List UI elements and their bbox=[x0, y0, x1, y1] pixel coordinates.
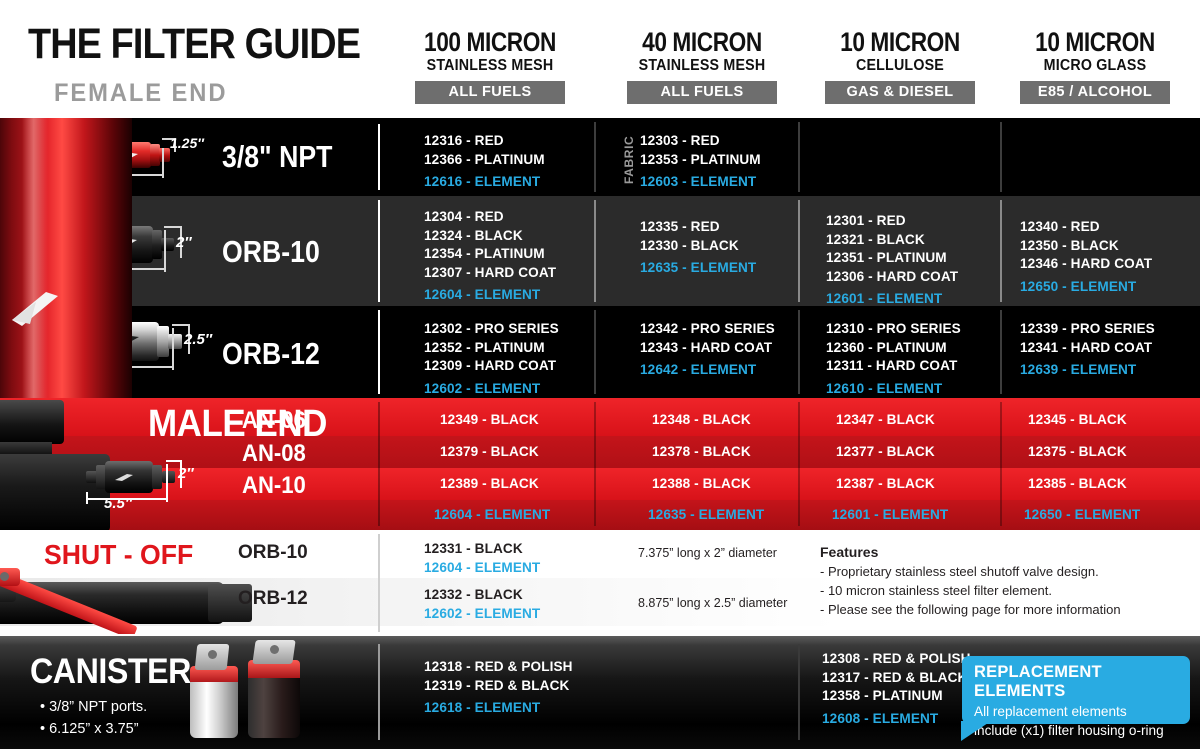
row-orb-10: 5.5″ 2″ ORB-10 12304 - RED 12324 - BLACK… bbox=[0, 196, 1200, 306]
chart-body: 3.5″ 1.25″ 3/8" NPT FABRIC 12316 - RED 1… bbox=[0, 118, 1200, 749]
column-divider bbox=[798, 310, 800, 394]
column-divider bbox=[378, 644, 380, 740]
callout-tail bbox=[961, 721, 991, 741]
cell-orb10-10micron-cellulose: 12301 - RED 12321 - BLACK 12351 - PLATIN… bbox=[826, 212, 958, 309]
column-fuel-badge: ALL FUELS bbox=[627, 81, 777, 104]
column-divider bbox=[798, 402, 800, 526]
column-header-10-micron-microglass: 10 MICRON MICRO GLASS E85 / ALCOHOL bbox=[995, 28, 1195, 104]
cell-npt38-100micron: 12316 - RED 12366 - PLATINUM 12616 - ELE… bbox=[424, 132, 545, 192]
column-divider bbox=[594, 122, 596, 192]
column-divider bbox=[378, 124, 380, 190]
fitting-label-shutoff-orb-10: ORB-10 bbox=[238, 542, 308, 564]
cell-shutoff-orb10-part: 12331 - BLACK 12604 - ELEMENT bbox=[424, 540, 540, 577]
canister-bullet: • 3/8” NPT ports. bbox=[40, 696, 147, 718]
shutoff-dimensions-orb10: 7.375” long x 2” diameter bbox=[638, 546, 777, 560]
dimension-diameter-label: 2″ bbox=[176, 234, 192, 251]
column-divider bbox=[594, 200, 596, 302]
feature-item: - 10 micron stainless steel filter eleme… bbox=[820, 581, 1121, 600]
aeromotive-logo-icon bbox=[6, 278, 64, 338]
page-subtitle: FEMALE END bbox=[54, 80, 227, 106]
column-divider bbox=[378, 534, 380, 632]
dimension-diameter-label: 2.5″ bbox=[184, 331, 212, 348]
column-fuel-badge: ALL FUELS bbox=[415, 81, 565, 104]
column-divider bbox=[1000, 402, 1002, 526]
fitting-label-shutoff-orb-12: ORB-12 bbox=[238, 588, 308, 610]
shutoff-dimensions-orb12: 8.875” long x 2.5” diameter bbox=[638, 596, 787, 610]
column-micron-label: 40 MICRON bbox=[618, 28, 786, 56]
features-list: Features - Proprietary stainless steel s… bbox=[820, 543, 1121, 619]
column-divider bbox=[378, 310, 380, 394]
cell-an10-10micron-microglass: 12385 - BLACK bbox=[1028, 475, 1127, 494]
column-divider bbox=[378, 200, 380, 302]
cell-orb12-100micron: 12302 - PRO SERIES 12352 - PLATINUM 1230… bbox=[424, 320, 559, 398]
cell-shutoff-orb12-part: 12332 - BLACK 12602 - ELEMENT bbox=[424, 586, 540, 623]
features-title: Features bbox=[820, 543, 1121, 562]
product-photo-male-end bbox=[86, 460, 176, 494]
cell-canister-10micron-cellulose: 12308 - RED & POLISH 12317 - RED & BLACK… bbox=[822, 650, 971, 728]
callout-line-2: include (x1) filter housing o-ring bbox=[962, 720, 1190, 739]
fitting-label-an-10: AN-10 bbox=[242, 472, 306, 500]
section-shut-off: SHUT - OFF ORB-10 ORB-12 12331 - BLACK 1… bbox=[0, 530, 1200, 636]
column-divider bbox=[594, 310, 596, 394]
male-row-band-elements bbox=[0, 500, 1200, 530]
dimension-diameter-label: 2″ bbox=[178, 465, 194, 482]
fitting-label-orb-12: ORB-12 bbox=[222, 338, 320, 370]
dimension-length-label: 5.5″ bbox=[104, 495, 132, 512]
cell-an10-10micron-cellulose: 12387 - BLACK bbox=[836, 475, 935, 494]
column-divider bbox=[378, 402, 380, 526]
column-divider bbox=[798, 122, 800, 192]
fitting-label-an-08: AN-08 bbox=[242, 440, 306, 468]
feature-item: - Please see the following page for more… bbox=[820, 600, 1121, 619]
fitting-label-npt-38: 3/8" NPT bbox=[222, 141, 332, 173]
cell-npt38-40micron: 12303 - RED 12353 - PLATINUM 12603 - ELE… bbox=[640, 132, 761, 192]
fabric-tag: FABRIC bbox=[622, 136, 636, 184]
column-media-label: MICRO GLASS bbox=[1003, 57, 1187, 75]
feature-item: - Proprietary stainless steel shutoff va… bbox=[820, 562, 1121, 581]
cell-an08-10micron-cellulose: 12377 - BLACK bbox=[836, 443, 935, 462]
column-micron-label: 10 MICRON bbox=[816, 28, 984, 56]
cell-male-element-40micron: 12635 - ELEMENT bbox=[648, 506, 764, 525]
fitting-label-an-06: AN-06 bbox=[242, 407, 306, 435]
column-fuel-badge: E85 / ALCOHOL bbox=[1020, 81, 1170, 104]
filter-guide-chart: THE FILTER GUIDE FEMALE END 100 MICRON S… bbox=[0, 0, 1200, 749]
callout-line-1: All replacement elements bbox=[962, 701, 1190, 720]
callout-title: REPLACEMENT ELEMENTS bbox=[962, 656, 1190, 701]
row-orb-12: 7″ 2.5″ ORB-12 12302 - PRO SERIES 12352 … bbox=[0, 306, 1200, 398]
canister-bullet: • 6.125” x 3.75” bbox=[40, 718, 139, 740]
column-divider bbox=[798, 644, 800, 740]
column-media-label: STAINLESS MESH bbox=[610, 57, 794, 75]
cell-orb12-10micron-microglass: 12339 - PRO SERIES 12341 - HARD COAT 126… bbox=[1020, 320, 1155, 380]
cell-an06-10micron-microglass: 12345 - BLACK bbox=[1028, 411, 1127, 430]
cell-canister-100micron: 12318 - RED & POLISH 12319 - RED & BLACK… bbox=[424, 658, 573, 718]
column-micron-label: 10 MICRON bbox=[1011, 28, 1179, 56]
page-title: THE FILTER GUIDE bbox=[28, 22, 360, 66]
cell-male-element-10micron-cellulose: 12601 - ELEMENT bbox=[832, 506, 948, 525]
row-npt-38: 3.5″ 1.25″ 3/8" NPT FABRIC 12316 - RED 1… bbox=[0, 118, 1200, 196]
cell-orb12-40micron: 12342 - PRO SERIES 12343 - HARD COAT 126… bbox=[640, 320, 775, 380]
cell-an10-100micron: 12389 - BLACK bbox=[440, 475, 539, 494]
cell-an06-100micron: 12349 - BLACK bbox=[440, 411, 539, 430]
cell-orb10-40micron: 12335 - RED 12330 - BLACK 12635 - ELEMEN… bbox=[640, 218, 756, 278]
column-divider bbox=[1000, 200, 1002, 302]
column-divider bbox=[1000, 122, 1002, 192]
replacement-elements-callout: REPLACEMENT ELEMENTS All replacement ele… bbox=[962, 656, 1190, 724]
column-header-10-micron-cellulose: 10 MICRON CELLULOSE GAS & DIESEL bbox=[800, 28, 1000, 104]
column-divider bbox=[1000, 310, 1002, 394]
cell-an08-40micron: 12378 - BLACK bbox=[652, 443, 751, 462]
cell-male-element-10micron-microglass: 12650 - ELEMENT bbox=[1024, 506, 1140, 525]
cell-male-element-100micron: 12604 - ELEMENT bbox=[434, 506, 550, 525]
cell-an08-10micron-microglass: 12375 - BLACK bbox=[1028, 443, 1127, 462]
column-media-label: STAINLESS MESH bbox=[398, 57, 582, 75]
cell-orb10-10micron-microglass: 12340 - RED 12350 - BLACK 12346 - HARD C… bbox=[1020, 218, 1152, 296]
section-label-shut-off: SHUT - OFF bbox=[44, 540, 193, 570]
section-male-end: MALE END 5.5″ 2″ AN-06 AN-08 AN bbox=[0, 398, 1200, 530]
cell-an06-40micron: 12348 - BLACK bbox=[652, 411, 751, 430]
product-photo-canister bbox=[182, 644, 332, 748]
column-media-label: CELLULOSE bbox=[808, 57, 992, 75]
column-micron-label: 100 MICRON bbox=[406, 28, 574, 56]
cell-an08-100micron: 12379 - BLACK bbox=[440, 443, 539, 462]
hero-photo-red-filter bbox=[0, 118, 160, 398]
column-fuel-badge: GAS & DIESEL bbox=[825, 81, 975, 104]
section-label-canister: CANISTER bbox=[30, 654, 191, 690]
cell-an06-10micron-cellulose: 12347 - BLACK bbox=[836, 411, 935, 430]
chart-header: THE FILTER GUIDE FEMALE END 100 MICRON S… bbox=[0, 0, 1200, 118]
dimension-diameter-label: 1.25″ bbox=[170, 135, 204, 151]
fitting-label-orb-10: ORB-10 bbox=[222, 236, 320, 268]
column-header-40-micron: 40 MICRON STAINLESS MESH ALL FUELS bbox=[602, 28, 802, 104]
column-divider bbox=[594, 402, 596, 526]
cell-orb12-10micron-cellulose: 12310 - PRO SERIES 12360 - PLATINUM 1231… bbox=[826, 320, 961, 398]
column-header-100-micron: 100 MICRON STAINLESS MESH ALL FUELS bbox=[390, 28, 590, 104]
cell-an10-40micron: 12388 - BLACK bbox=[652, 475, 751, 494]
column-divider bbox=[798, 200, 800, 302]
